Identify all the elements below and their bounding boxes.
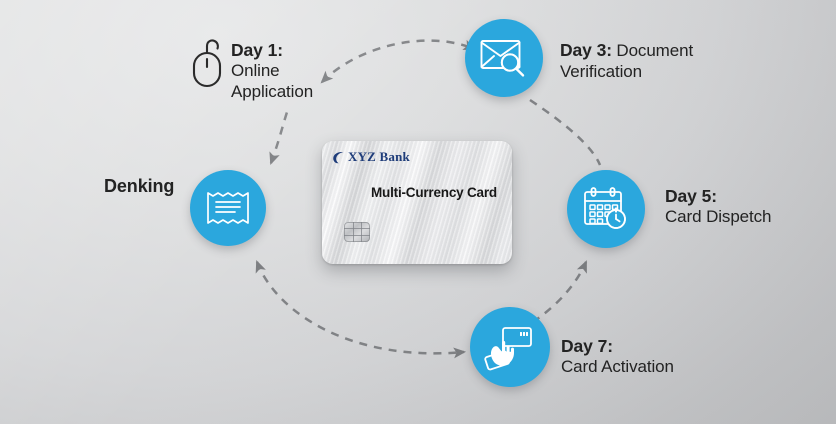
infographic-canvas: Denking Day 1: Online Application Day 3:… xyxy=(0,0,836,424)
label-day3: Day 3: Document Verification xyxy=(560,40,693,82)
emv-chip-icon xyxy=(344,222,370,242)
label-denking: Denking xyxy=(104,176,174,198)
label-day1-sub2: Application xyxy=(231,82,313,103)
label-day5: Day 5: Card Dispetch xyxy=(665,186,771,228)
node-day1[interactable] xyxy=(188,37,228,96)
node-day7[interactable] xyxy=(470,307,550,387)
arrow-day1-to-day3 xyxy=(322,41,474,82)
calendar-stopwatch-icon xyxy=(582,186,630,232)
label-day1: Day 1: Online Application xyxy=(231,40,313,103)
label-day7: Day 7: Card Activation xyxy=(561,336,674,378)
label-day7-sub: Card Activation xyxy=(561,357,674,378)
label-denking-title: Denking xyxy=(104,176,174,198)
card-product-name: Multi-Currency Card xyxy=(371,185,512,200)
card-brand: XYZ Bank xyxy=(332,149,512,165)
computer-mouse-icon xyxy=(188,37,228,91)
envelope-magnifier-icon xyxy=(479,37,529,79)
arrow-day3-to-day5 xyxy=(530,100,600,165)
label-day3-line1: Day 3: Document xyxy=(560,40,693,62)
label-day7-title: Day 7: xyxy=(561,336,674,357)
label-day3-sub2: Verification xyxy=(560,62,693,83)
node-day5[interactable] xyxy=(567,170,645,248)
label-day1-title: Day 1: xyxy=(231,40,313,61)
label-day3-title: Day 3: xyxy=(560,40,612,60)
label-day3-sub: Document xyxy=(616,41,693,60)
label-day5-title: Day 5: xyxy=(665,186,771,207)
arrow-bottom-denking-to-day7 xyxy=(257,262,464,353)
label-day5-sub: Card Dispetch xyxy=(665,207,771,228)
arrow-denking-to-day1 xyxy=(271,112,287,163)
node-day3[interactable] xyxy=(465,19,543,97)
node-denking[interactable] xyxy=(190,170,266,246)
card-bank-name: XYZ Bank xyxy=(348,149,410,165)
hand-holding-card-icon xyxy=(484,322,536,372)
document-certificate-icon xyxy=(205,188,251,228)
bank-swoosh-logo-icon xyxy=(332,151,345,164)
credit-card: XYZ Bank Multi-Currency Card XXXX XXXX X… xyxy=(322,141,512,264)
label-day1-sub: Online xyxy=(231,61,313,82)
